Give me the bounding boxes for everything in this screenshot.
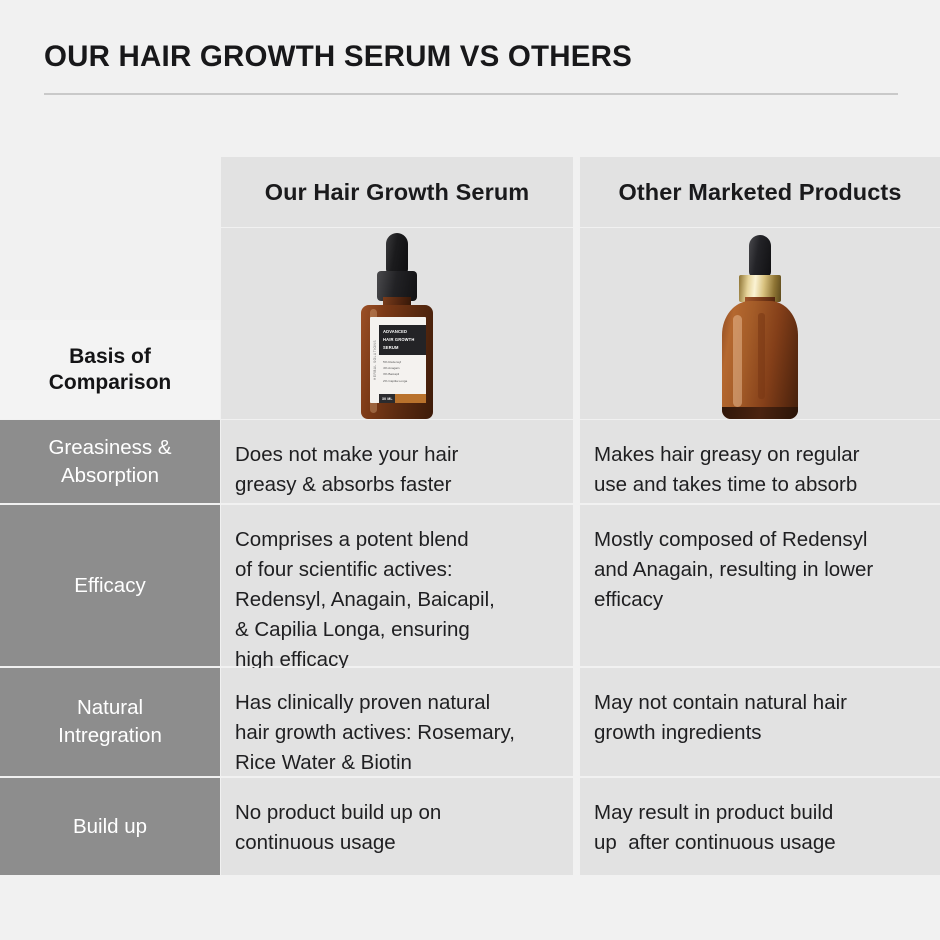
table-cell-others-greasiness: Makes hair greasy on regular use and tak… bbox=[580, 420, 940, 503]
bottle-footer-accent bbox=[395, 394, 426, 403]
cell-text: Comprises a potent blend of four scienti… bbox=[235, 525, 559, 675]
bottle-base bbox=[722, 407, 798, 419]
table-cell-others-buildup: May result in product build up after con… bbox=[580, 778, 940, 875]
bottle-highlight bbox=[733, 315, 742, 407]
bottle-pipette bbox=[758, 313, 765, 399]
bottle-volume-text: 30 ML bbox=[379, 397, 393, 401]
column-header-ours-label: Our Hair Growth Serum bbox=[265, 179, 530, 206]
row-label-text: Natural Intregration bbox=[58, 694, 162, 750]
column-header-ours: Our Hair Growth Serum bbox=[221, 157, 573, 227]
bottle-name-line-1: ADVANCED bbox=[383, 328, 423, 336]
comparison-table: Our Hair Growth Serum HERBAL SOLUTIONS A… bbox=[0, 0, 940, 940]
bottle-body: HERBAL SOLUTIONS ADVANCED HAIR GROWTH SE… bbox=[361, 305, 433, 419]
cell-text: No product build up on continuous usage bbox=[235, 798, 559, 858]
cell-text: May result in product build up after con… bbox=[594, 798, 926, 858]
bottle-name-line-3: SERUM bbox=[383, 344, 423, 352]
row-label-text: Greasiness & Absorption bbox=[48, 434, 171, 490]
bottle-ingredient-item: 2% Capilia Longa bbox=[383, 378, 424, 384]
table-cell-ours-efficacy: Comprises a potent blend of four scienti… bbox=[221, 505, 573, 666]
table-cell-ours-greasiness: Does not make your hair greasy & absorbs… bbox=[221, 420, 573, 503]
bottle-name-line-2: HAIR GROWTH bbox=[383, 336, 423, 344]
basis-of-comparison-header: Basis of Comparison bbox=[0, 320, 220, 419]
table-cell-others-efficacy: Mostly composed of Redensyl and Anagain,… bbox=[580, 505, 940, 666]
row-label-build-up: Build up bbox=[0, 778, 220, 875]
row-label-efficacy: Efficacy bbox=[0, 505, 220, 666]
cell-text: Has clinically proven natural hair growt… bbox=[235, 688, 559, 778]
bottle-label-main: ADVANCED HAIR GROWTH SERUM 5% Redensyl 4… bbox=[379, 317, 426, 403]
cell-text: Makes hair greasy on regular use and tak… bbox=[594, 440, 926, 500]
row-label-greasiness-absorption: Greasiness & Absorption bbox=[0, 420, 220, 503]
basis-of-comparison-label: Basis of Comparison bbox=[49, 344, 172, 396]
bottle-label-nameplate: ADVANCED HAIR GROWTH SERUM bbox=[379, 325, 426, 355]
dropper-bulb-icon bbox=[749, 235, 771, 277]
table-cell-ours-buildup: No product build up on continuous usage bbox=[221, 778, 573, 875]
cell-text: May not contain natural hair growth ingr… bbox=[594, 688, 926, 748]
cell-text: Does not make your hair greasy & absorbs… bbox=[235, 440, 559, 500]
table-cell-ours-natural: Has clinically proven natural hair growt… bbox=[221, 668, 573, 776]
serum-bottle-labeled-icon: HERBAL SOLUTIONS ADVANCED HAIR GROWTH SE… bbox=[353, 233, 441, 419]
cell-text: Mostly composed of Redensyl and Anagain,… bbox=[594, 525, 926, 615]
bottle-label: HERBAL SOLUTIONS ADVANCED HAIR GROWTH SE… bbox=[370, 317, 426, 403]
bottle-body bbox=[722, 301, 798, 419]
serum-bottle-plain-icon bbox=[715, 235, 805, 419]
bottle-brand-text: HERBAL SOLUTIONS bbox=[373, 340, 377, 380]
product-image-cell-ours: HERBAL SOLUTIONS ADVANCED HAIR GROWTH SE… bbox=[221, 228, 573, 419]
bottle-ingredient-list: 5% Redensyl 4% Anagain 3% Baicapil 2% Ca… bbox=[383, 359, 424, 384]
column-header-others-label: Other Marketed Products bbox=[618, 179, 901, 206]
product-image-cell-others bbox=[580, 228, 940, 419]
dropper-bulb-icon bbox=[386, 233, 408, 275]
bottle-label-brand-side: HERBAL SOLUTIONS bbox=[370, 317, 379, 403]
row-label-natural-intregration: Natural Intregration bbox=[0, 668, 220, 776]
row-label-text: Build up bbox=[73, 813, 147, 841]
table-cell-others-natural: May not contain natural hair growth ingr… bbox=[580, 668, 940, 776]
column-header-others: Other Marketed Products bbox=[580, 157, 940, 227]
row-label-text: Efficacy bbox=[74, 572, 145, 600]
bottle-label-footer: 30 ML bbox=[379, 394, 426, 403]
